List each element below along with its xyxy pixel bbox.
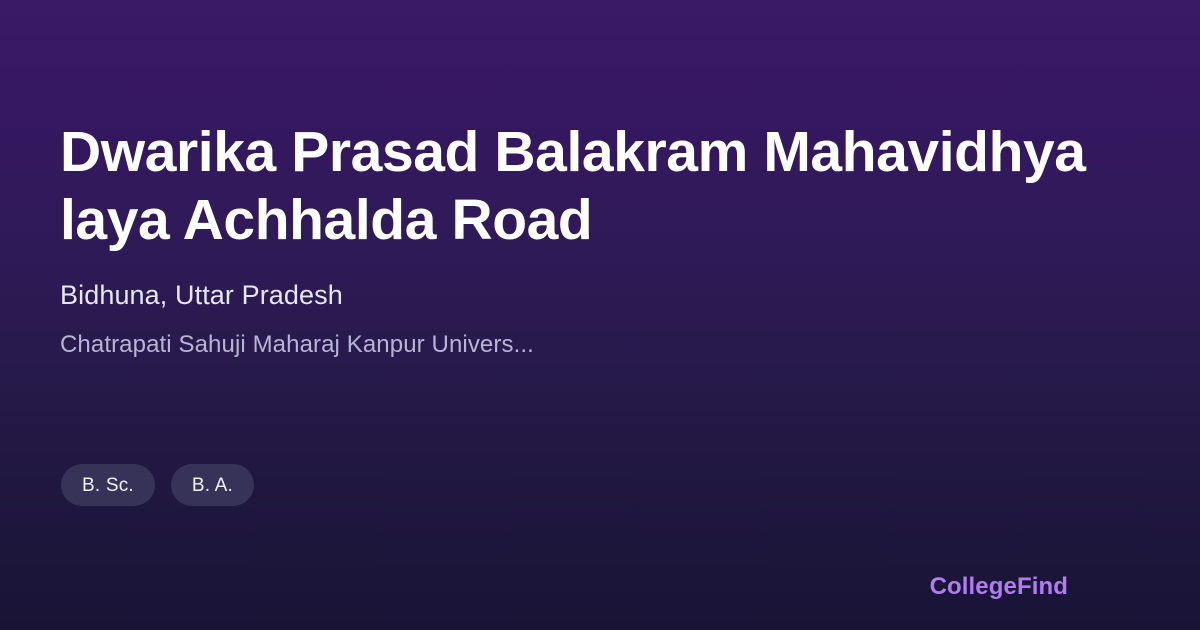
- course-tag[interactable]: B. Sc.: [61, 464, 155, 506]
- brand-wordmark: CollegeFind: [930, 572, 1068, 602]
- course-tag[interactable]: B. A.: [171, 464, 254, 506]
- course-tag-list: B. Sc. B. A.: [61, 464, 254, 506]
- page-title: Dwarika Prasad Balakram Mahavidhyalaya A…: [60, 118, 1090, 254]
- card-content: Dwarika Prasad Balakram Mahavidhyalaya A…: [60, 118, 1140, 360]
- college-location: Bidhuna, Uttar Pradesh: [60, 254, 1140, 312]
- affiliated-university: Chatrapati Sahuji Maharaj Kanpur Univers…: [60, 312, 1040, 360]
- college-share-card: Dwarika Prasad Balakram Mahavidhyalaya A…: [0, 0, 1200, 630]
